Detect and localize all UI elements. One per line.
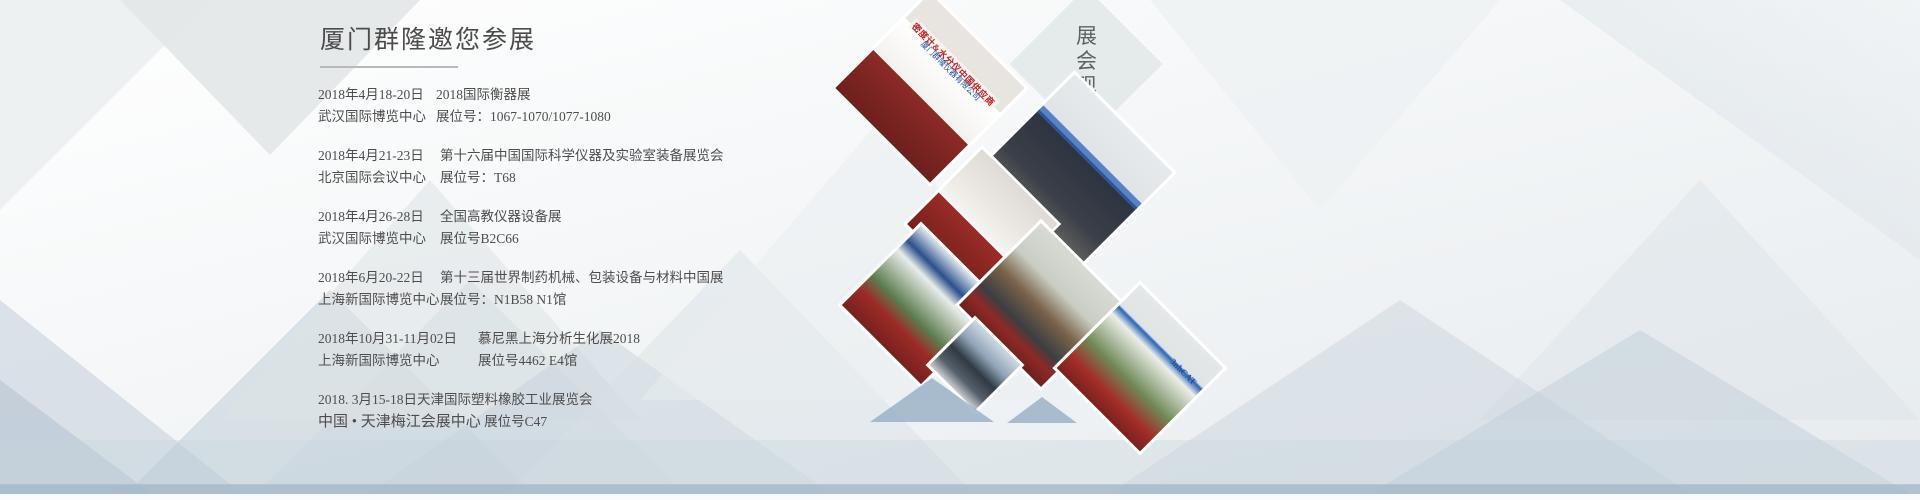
event-date: 2018年4月26-28日	[318, 206, 440, 228]
event-date: 2018. 3月15-18日天津国际塑料橡胶工业展览会	[318, 392, 593, 407]
event-venue: 武汉国际博览中心	[318, 106, 436, 128]
event-date: 2018年10月31-11月02日	[318, 328, 478, 350]
event-venue: 北京国际会议中心	[318, 167, 440, 189]
event-booth: 展位号4462 E4馆	[478, 350, 577, 372]
event-name: 第十三届世界制药机械、包装设备与材料中国展	[440, 267, 724, 289]
event-venue: 中国 • 天津梅江会展中心	[318, 414, 481, 430]
event-date: 2018年4月21-23日	[318, 145, 440, 167]
photo-caption-main: 密度计&水分仪中国供应商	[909, 20, 998, 109]
photo-caption-sub: 厦门群隆仪器有限公司	[918, 39, 982, 103]
event-venue: 上海新国际博览中心	[318, 350, 478, 372]
bottom-white-strip	[0, 494, 1920, 500]
decor-triangle-right	[1007, 397, 1077, 423]
event-venue: 上海新国际博览中心	[318, 289, 440, 311]
decor-triangle-left	[870, 378, 994, 422]
event-booth: 展位号：N1B58 N1馆	[440, 289, 566, 311]
event-booth: 展位号：1067-1070/1077-1080	[436, 106, 611, 128]
title-underline	[320, 66, 458, 68]
event-date: 2018年4月18-20日	[318, 84, 436, 106]
event-name: 2018国际衡器展	[436, 84, 531, 106]
photo-collage: 展会现场 密度计&水分仪中国供应商 厦门群隆仪器有限公司 3nhCAT	[840, 0, 1920, 500]
event-date: 2018年6月20-22日	[318, 267, 440, 289]
event-booth: 展位号：T68	[440, 167, 516, 189]
event-name: 全国高教仪器设备展	[440, 206, 562, 228]
event-name: 第十六届中国国际科学仪器及实验室装备展览会	[440, 145, 724, 167]
photo-caption-main: 3nhCAT	[1168, 356, 1198, 386]
photo-banner-strip	[1037, 106, 1141, 210]
event-booth: 展位号C47	[484, 414, 547, 429]
event-venue: 武汉国际博览中心	[318, 228, 440, 250]
event-booth: 展位号B2C66	[440, 228, 519, 250]
exhibition-banner: 厦门群隆邀您参展 2018年4月18-20日 2018国际衡器展 武汉国际博览中…	[0, 0, 1920, 500]
event-name: 慕尼黑上海分析生化展2018	[478, 328, 640, 350]
